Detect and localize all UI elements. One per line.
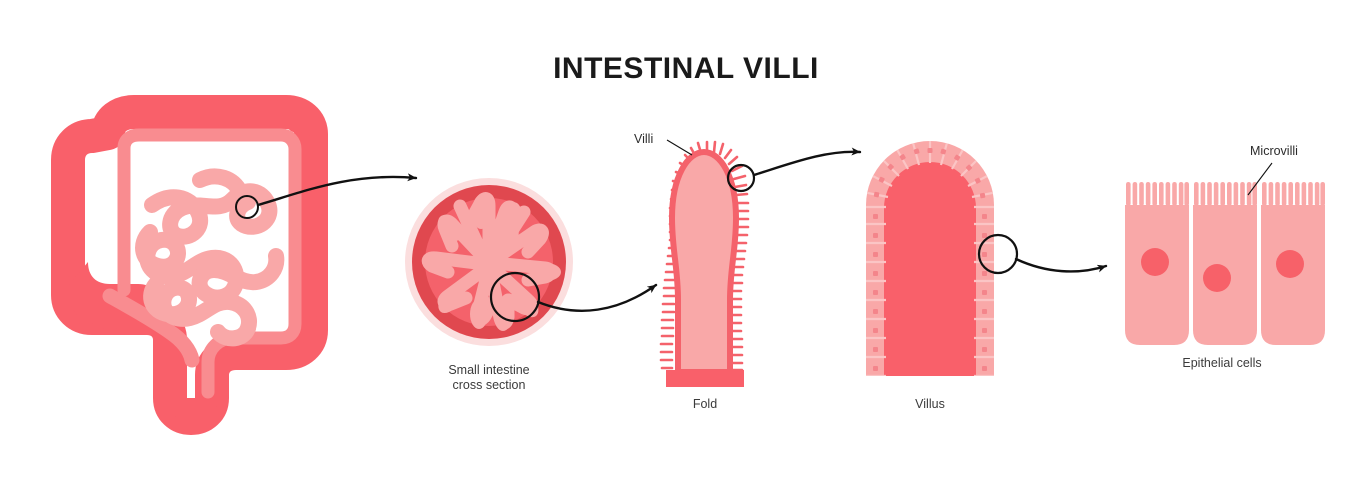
- fold-illustration: [661, 142, 748, 387]
- villus-illustration: [863, 137, 997, 376]
- arrow-fold-to-villus: [754, 152, 860, 175]
- caption-epithelial-cells: Epithelial cells: [1152, 356, 1292, 371]
- epithelial-cells-illustration: [1125, 182, 1325, 345]
- label-microvilli: Microvilli: [1250, 144, 1298, 158]
- epithelial-cell: [1261, 182, 1325, 345]
- microvilli: [1262, 182, 1325, 206]
- caption-villus: Villus: [870, 397, 990, 412]
- diagram-svg: [0, 0, 1372, 500]
- villus-core: [884, 162, 976, 376]
- caption-cross-section-line1: Small intestine: [409, 363, 569, 378]
- large-intestine-illustration: [59, 100, 326, 425]
- leader-line-villi: [667, 140, 692, 155]
- label-villi: Villi: [634, 132, 653, 146]
- cell-nucleus: [1276, 250, 1304, 278]
- leader-line-microvilli: [1248, 163, 1272, 195]
- small-intestine-cross-section: [405, 178, 573, 346]
- epithelial-cell: [1193, 182, 1257, 345]
- caption-fold: Fold: [645, 397, 765, 412]
- microvilli: [1126, 182, 1189, 206]
- illustration-canvas: INTESTINAL VILLI: [0, 0, 1372, 500]
- arrow-villus-to-cells: [1016, 259, 1106, 271]
- cell-nucleus: [1141, 248, 1169, 276]
- fold-body: [672, 152, 736, 372]
- microvilli: [1194, 182, 1257, 206]
- fold-base: [666, 370, 744, 387]
- caption-cross-section-line2: cross section: [409, 378, 569, 393]
- epithelial-cell: [1125, 182, 1189, 345]
- cell-nucleus: [1203, 264, 1231, 292]
- arrow-intestine-to-cross-section: [258, 177, 416, 205]
